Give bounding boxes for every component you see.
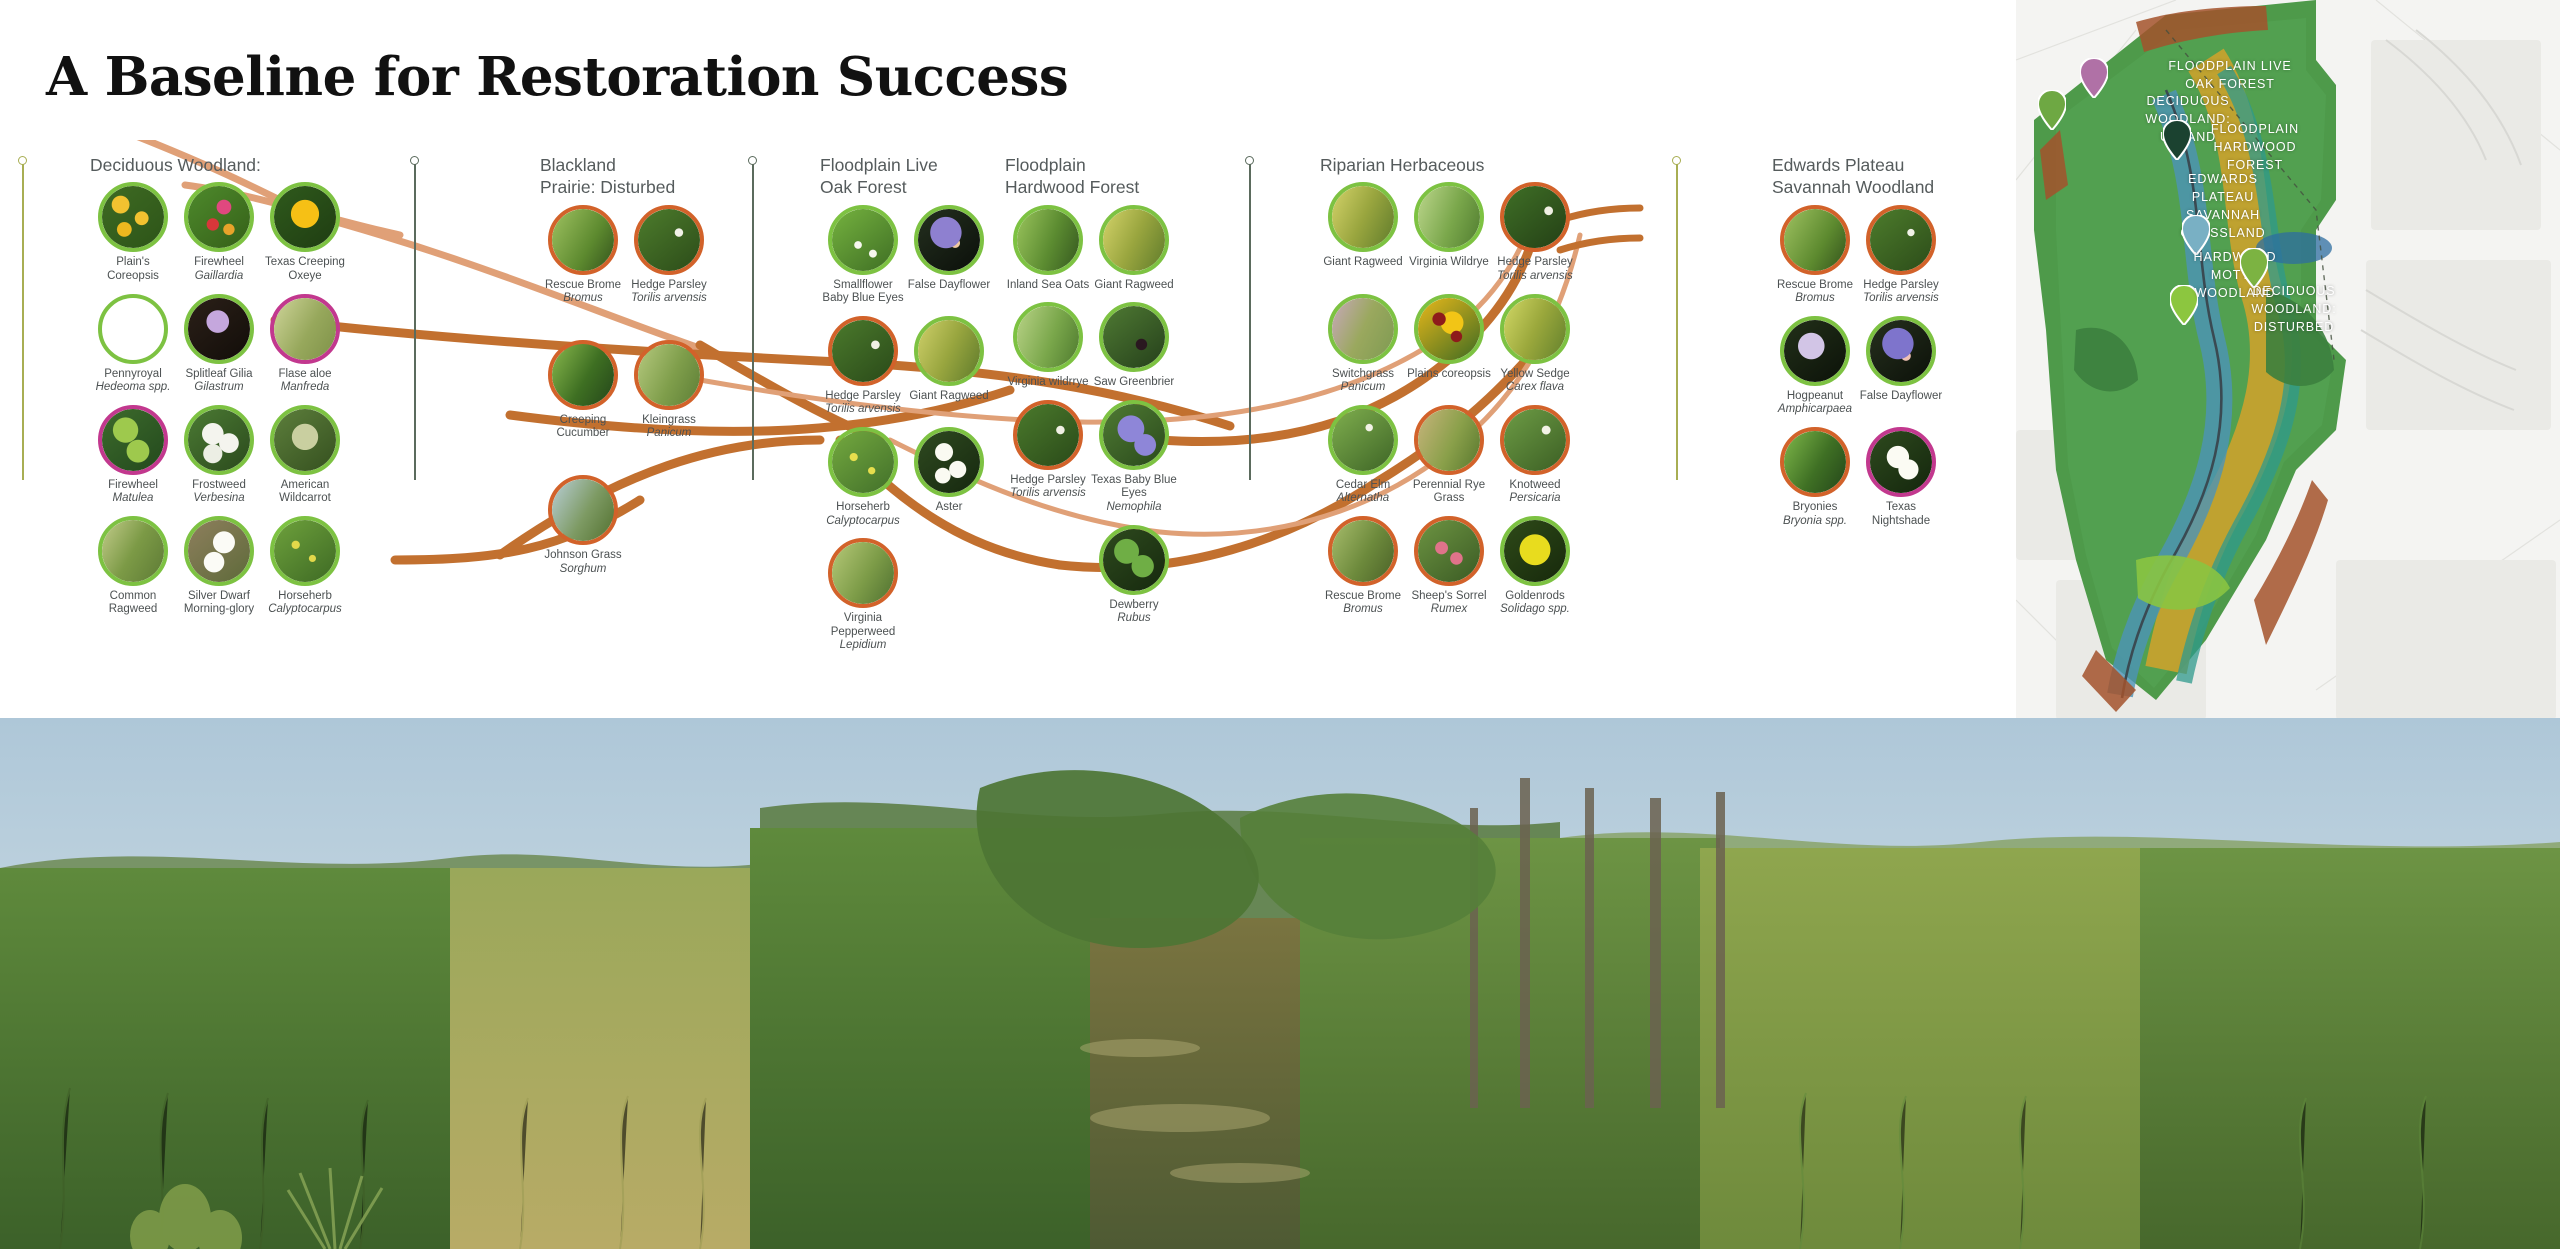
plant-photo-bubble bbox=[634, 340, 704, 410]
divider-stem-4 bbox=[1676, 162, 1678, 480]
plant-common-name: Bryonies bbox=[1772, 501, 1858, 515]
map-basemap bbox=[2016, 0, 2560, 720]
plant-card[interactable]: Dewberry Rubus bbox=[1091, 525, 1177, 626]
plant-card[interactable]: Inland Sea Oats bbox=[1005, 205, 1091, 293]
plant-common-name: Pennyroyal bbox=[90, 368, 176, 382]
plant-photo-bubble bbox=[1099, 302, 1169, 372]
plant-common-name: Flase aloe bbox=[262, 368, 348, 382]
plant-photo-bubble bbox=[548, 475, 618, 545]
plant-card[interactable]: Giant Ragweed bbox=[1320, 182, 1406, 283]
plant-photo-bubble bbox=[270, 182, 340, 252]
plant-latin-name: Solidago spp. bbox=[1492, 603, 1578, 617]
plant-latin-name: Bromus bbox=[540, 292, 626, 306]
plant-common-name: Cedar Elm bbox=[1320, 479, 1406, 493]
plant-card[interactable]: Cedar Elm Alternatha bbox=[1320, 405, 1406, 506]
plant-common-name: Plains coreopsis bbox=[1406, 368, 1492, 382]
divider-stem-dot-0 bbox=[18, 156, 27, 165]
group-title: Deciduous Woodland: bbox=[90, 154, 360, 176]
plant-common-name: Rescue Brome bbox=[1320, 590, 1406, 604]
map-pin-floodplain-live-oak-forest[interactable] bbox=[2080, 58, 2108, 98]
plant-photo-bubble bbox=[914, 316, 984, 386]
plant-common-name: Saw Greenbrier bbox=[1091, 376, 1177, 390]
plant-common-name: Kleingrass bbox=[626, 414, 712, 428]
plant-photo-bubble bbox=[1013, 205, 1083, 275]
plant-photo-bubble bbox=[914, 427, 984, 497]
plant-card[interactable]: Texas Nightshade bbox=[1858, 427, 1944, 528]
plant-grid: Smallflower Baby Blue Eyes False Dayflow… bbox=[820, 205, 1000, 663]
plant-common-name: Texas Creeping Oxeye bbox=[262, 256, 348, 283]
map-pin-floodplain-hardwood-forest[interactable] bbox=[2163, 120, 2191, 160]
plant-photo-bubble bbox=[98, 294, 168, 364]
plant-card[interactable]: Knotweed Persicaria bbox=[1492, 405, 1578, 506]
plant-photo-bubble bbox=[1013, 400, 1083, 470]
plant-photo-bubble bbox=[1500, 405, 1570, 475]
plant-photo-bubble bbox=[184, 182, 254, 252]
plant-photo-bubble bbox=[1500, 516, 1570, 586]
plant-common-name: Frostweed bbox=[176, 479, 262, 493]
plant-photo-bubble bbox=[1866, 427, 1936, 497]
plant-common-name: Hedge Parsley bbox=[1858, 279, 1944, 293]
plant-common-name: Giant Ragweed bbox=[1091, 279, 1177, 293]
plant-common-name: Hedge Parsley bbox=[1492, 256, 1578, 270]
plant-card[interactable]: Rescue Brome Bromus bbox=[1320, 516, 1406, 617]
plant-common-name: Hedge Parsley bbox=[820, 390, 906, 404]
plant-card[interactable]: Frostweed Verbesina bbox=[176, 405, 262, 506]
plant-photo-bubble bbox=[634, 205, 704, 275]
plant-common-name: Sheep's Sorrel bbox=[1406, 590, 1492, 604]
plant-card[interactable]: Smallflower Baby Blue Eyes bbox=[820, 205, 906, 306]
plant-latin-name: Panicum bbox=[1320, 381, 1406, 395]
plant-photo-bubble bbox=[98, 516, 168, 586]
plant-latin-name: Gilastrum bbox=[176, 381, 262, 395]
plant-card[interactable]: Texas Creeping Oxeye bbox=[262, 182, 348, 283]
plant-common-name: Switchgrass bbox=[1320, 368, 1406, 382]
plant-common-name: Splitleaf Gilia bbox=[176, 368, 262, 382]
group-deciduous-woodland: Deciduous Woodland: Plain's Coreopsis Fi… bbox=[90, 154, 360, 627]
plant-card[interactable]: Silver Dwarf Morning-glory bbox=[176, 516, 262, 617]
site-map[interactable]: FLOODPLAIN LIVE OAK FOREST DECIDUOUS WOO… bbox=[2016, 0, 2560, 720]
plant-card[interactable]: Flase aloe Manfreda bbox=[262, 294, 348, 395]
plant-common-name: Yellow Sedge bbox=[1492, 368, 1578, 382]
plant-photo-bubble bbox=[1099, 525, 1169, 595]
plant-card[interactable]: Virginia Pepperweed Lepidium bbox=[820, 538, 906, 653]
group-blackland-prairie: Blackland Prairie: Disturbed Rescue Brom… bbox=[540, 154, 720, 586]
plant-card[interactable]: Hedge Parsley Torilis arvensis bbox=[820, 316, 906, 417]
plant-common-name: Knotweed bbox=[1492, 479, 1578, 493]
plant-photo-bubble bbox=[1328, 405, 1398, 475]
plant-latin-name: Amphicarpaea bbox=[1772, 403, 1858, 417]
plant-photo-bubble bbox=[98, 405, 168, 475]
plant-photo-bubble bbox=[270, 405, 340, 475]
plant-common-name: Firewheel bbox=[90, 479, 176, 493]
plant-card[interactable]: Kleingrass Panicum bbox=[626, 340, 712, 441]
plant-card[interactable]: Plains coreopsis bbox=[1406, 294, 1492, 395]
plant-common-name: Smallflower Baby Blue Eyes bbox=[820, 279, 906, 306]
group-floodplain-live-oak-forest: Floodplain Live Oak Forest Smallflower B… bbox=[820, 154, 1000, 663]
plant-photo-bubble bbox=[828, 205, 898, 275]
plant-grid: Giant Ragweed Virginia Wildrye Hedge Par… bbox=[1320, 182, 1590, 627]
plant-card[interactable]: Switchgrass Panicum bbox=[1320, 294, 1406, 395]
plant-card[interactable]: Saw Greenbrier bbox=[1091, 302, 1177, 390]
plant-grid: Rescue Brome Bromus Hedge Parsley Torili… bbox=[540, 205, 720, 586]
group-title: Riparian Herbaceous bbox=[1320, 154, 1590, 176]
plant-common-name: Hedge Parsley bbox=[1005, 474, 1091, 488]
plant-photo-bubble bbox=[548, 340, 618, 410]
plant-photo-bubble bbox=[1500, 294, 1570, 364]
plant-photo-bubble bbox=[1414, 294, 1484, 364]
plant-photo-bubble bbox=[914, 205, 984, 275]
plant-common-name: Plain's Coreopsis bbox=[90, 256, 176, 283]
plant-card[interactable]: Rescue Brome Bromus bbox=[1772, 205, 1858, 306]
plant-photo-bubble bbox=[98, 182, 168, 252]
map-label-floodplain-hardwood-forest: FLOODPLAIN HARDWOOD FOREST bbox=[2196, 120, 2314, 174]
map-pin-icon bbox=[2080, 58, 2108, 98]
divider-stem-0 bbox=[22, 162, 24, 480]
plant-common-name: Virginia wildrrye bbox=[1005, 376, 1091, 390]
plant-card[interactable]: Johnson Grass Sorghum bbox=[540, 475, 626, 576]
plant-photo-bubble bbox=[828, 538, 898, 608]
plant-photo-bubble bbox=[184, 294, 254, 364]
group-riparian-herbaceous: Riparian Herbaceous Giant Ragweed Virgin… bbox=[1320, 154, 1590, 627]
plant-latin-name: Torilis arvensis bbox=[1492, 270, 1578, 284]
plant-card[interactable]: Giant Ragweed bbox=[1091, 205, 1177, 293]
plant-common-name: Perennial Rye Grass bbox=[1406, 479, 1492, 506]
plant-card[interactable]: Firewheel Matulea bbox=[90, 405, 176, 506]
plant-card[interactable]: Yellow Sedge Carex flava bbox=[1492, 294, 1578, 395]
group-title: Floodplain Live Oak Forest bbox=[820, 154, 1000, 199]
divider-stem-1 bbox=[414, 162, 416, 480]
plant-common-name: Rescue Brome bbox=[1772, 279, 1858, 293]
plant-photo-bubble bbox=[270, 516, 340, 586]
plant-photo-bubble bbox=[828, 427, 898, 497]
plant-grid: Plain's Coreopsis Firewheel Gaillardia T… bbox=[90, 182, 360, 627]
plant-common-name: Virginia Wildrye bbox=[1406, 256, 1492, 270]
plant-common-name: Horseherb bbox=[262, 590, 348, 604]
plant-photo-bubble bbox=[184, 405, 254, 475]
plant-card[interactable]: American Wildcarrot bbox=[262, 405, 348, 506]
plant-card[interactable]: Hedge Parsley Torilis arvensis bbox=[1858, 205, 1944, 306]
plant-photo-bubble bbox=[1013, 302, 1083, 372]
plant-latin-name: Rubus bbox=[1091, 612, 1177, 626]
plant-common-name: American Wildcarrot bbox=[262, 479, 348, 506]
plant-photo-bubble bbox=[1099, 205, 1169, 275]
divider-stem-dot-3 bbox=[1245, 156, 1254, 165]
divider-stem-3 bbox=[1249, 162, 1251, 480]
plant-card[interactable]: Sheep's Sorrel Rumex bbox=[1406, 516, 1492, 617]
plant-latin-name: Bromus bbox=[1320, 603, 1406, 617]
plant-photo-bubble bbox=[1414, 516, 1484, 586]
plant-common-name: Johnson Grass bbox=[540, 549, 626, 563]
plant-photo-bubble bbox=[1866, 316, 1936, 386]
plant-card[interactable]: False Dayflower bbox=[1858, 316, 1944, 417]
plant-latin-name: Hedeoma spp. bbox=[90, 381, 176, 395]
divider-stem-dot-1 bbox=[410, 156, 419, 165]
plant-latin-name: Persicaria bbox=[1492, 492, 1578, 506]
plant-card[interactable]: Splitleaf Gilia Gilastrum bbox=[176, 294, 262, 395]
site-panorama[interactable]: Deciduous Woodland: Upland Blackland Pra… bbox=[0, 718, 2560, 1249]
plant-grid: Inland Sea Oats Giant Ragweed Virginia w… bbox=[1005, 205, 1185, 636]
plant-common-name: False Dayflower bbox=[906, 279, 992, 293]
group-title: Edwards Plateau Savannah Woodland bbox=[1772, 154, 1952, 199]
plant-latin-name: Matulea bbox=[90, 492, 176, 506]
map-pin-deciduous-woodland-upland[interactable] bbox=[2038, 90, 2066, 130]
plant-common-name: Rescue Brome bbox=[540, 279, 626, 293]
plant-latin-name: Panicum bbox=[626, 427, 712, 441]
plant-latin-name: Calyptocarpus bbox=[820, 515, 906, 529]
plant-latin-name: Manfreda bbox=[262, 381, 348, 395]
plant-common-name: Silver Dwarf Morning-glory bbox=[176, 590, 262, 617]
plant-latin-name: Alternatha bbox=[1320, 492, 1406, 506]
plant-card[interactable]: Hedge Parsley Torilis arvensis bbox=[626, 205, 712, 306]
plant-card[interactable]: Virginia Wildrye bbox=[1406, 182, 1492, 283]
plant-photo-bubble bbox=[1414, 182, 1484, 252]
plant-latin-name: Bromus bbox=[1772, 292, 1858, 306]
group-edwards-plateau-savannah-woodland: Edwards Plateau Savannah Woodland Rescue… bbox=[1772, 154, 1952, 538]
plant-common-name: Hedge Parsley bbox=[626, 279, 712, 293]
divider-stem-dot-2 bbox=[748, 156, 757, 165]
group-floodplain-hardwood-forest: Floodplain Hardwood Forest Inland Sea Oa… bbox=[1005, 154, 1185, 636]
plant-latin-name: Carex flava bbox=[1492, 381, 1578, 395]
plant-photo-bubble bbox=[1780, 427, 1850, 497]
plant-common-name: Giant Ragweed bbox=[1320, 256, 1406, 270]
plant-common-name: Aster bbox=[906, 501, 992, 515]
group-title: Blackland Prairie: Disturbed bbox=[540, 154, 720, 199]
plant-card[interactable]: Common Ragweed bbox=[90, 516, 176, 617]
plant-card[interactable]: Aster bbox=[906, 427, 992, 528]
plant-latin-name: Gaillardia bbox=[176, 270, 262, 284]
plant-common-name: Virginia Pepperweed bbox=[820, 612, 906, 639]
plant-photo-bubble bbox=[1780, 316, 1850, 386]
plant-photo-bubble bbox=[828, 316, 898, 386]
plant-common-name: Firewheel bbox=[176, 256, 262, 270]
plant-common-name: Horseherb bbox=[820, 501, 906, 515]
plant-latin-name: Nemophila bbox=[1091, 501, 1177, 515]
plant-latin-name: Lepidium bbox=[820, 639, 906, 653]
page-title: A Baseline for Restoration Success bbox=[46, 46, 1068, 108]
plant-common-name: Goldenrods bbox=[1492, 590, 1578, 604]
plant-photo-bubble bbox=[270, 294, 340, 364]
plant-common-name: Giant Ragweed bbox=[906, 390, 992, 404]
plant-latin-name: Sorghum bbox=[540, 563, 626, 577]
plant-photo-bubble bbox=[184, 516, 254, 586]
plant-latin-name: Torilis arvensis bbox=[820, 403, 906, 417]
plant-photo-bubble bbox=[1500, 182, 1570, 252]
plant-card[interactable]: Rescue Brome Bromus bbox=[540, 205, 626, 306]
plant-latin-name: Torilis arvensis bbox=[626, 292, 712, 306]
map-label-floodplain-live-oak-forest: FLOODPLAIN LIVE OAK FOREST bbox=[2155, 57, 2305, 93]
plant-card[interactable]: Hedge Parsley Torilis arvensis bbox=[1005, 400, 1091, 515]
plant-card[interactable]: Creeping Cucumber bbox=[540, 340, 626, 441]
plant-card[interactable]: Perennial Rye Grass bbox=[1406, 405, 1492, 506]
plant-card[interactable]: Hedge Parsley Torilis arvensis bbox=[1492, 182, 1578, 283]
plant-common-name: Hogpeanut bbox=[1772, 390, 1858, 404]
plant-common-name: Inland Sea Oats bbox=[1005, 279, 1091, 293]
plant-common-name: Dewberry bbox=[1091, 599, 1177, 613]
plant-photo-bubble bbox=[1780, 205, 1850, 275]
plant-common-name: Creeping Cucumber bbox=[540, 414, 626, 441]
plant-card[interactable]: Goldenrods Solidago spp. bbox=[1492, 516, 1578, 617]
plant-common-name: Texas Baby Blue Eyes bbox=[1091, 474, 1177, 501]
plant-latin-name: Calyptocarpus bbox=[262, 603, 348, 617]
plant-photo-bubble bbox=[1328, 182, 1398, 252]
plant-photo-bubble bbox=[1866, 205, 1936, 275]
plant-card[interactable]: Firewheel Gaillardia bbox=[176, 182, 262, 283]
panorama-photo bbox=[0, 718, 2560, 1249]
map-label-deciduous-woodland-disturbed: DECIDUOUS WOODLAND: DISTURBED bbox=[2234, 282, 2354, 336]
habitat-diagram: Deciduous Woodland: Plain's Coreopsis Fi… bbox=[0, 140, 2020, 710]
plant-photo-bubble bbox=[1328, 516, 1398, 586]
plant-latin-name: Torilis arvensis bbox=[1858, 292, 1944, 306]
plant-latin-name: Bryonia spp. bbox=[1772, 515, 1858, 529]
group-title: Floodplain Hardwood Forest bbox=[1005, 154, 1185, 199]
map-pin-icon bbox=[2163, 120, 2191, 160]
plant-common-name: Common Ragweed bbox=[90, 590, 176, 617]
plant-card[interactable]: False Dayflower bbox=[906, 205, 992, 306]
divider-stem-dot-4 bbox=[1672, 156, 1681, 165]
plant-card[interactable]: Pennyroyal Hedeoma spp. bbox=[90, 294, 176, 395]
plant-photo-bubble bbox=[1099, 400, 1169, 470]
plant-card[interactable]: Horseherb Calyptocarpus bbox=[820, 427, 906, 528]
map-pin-icon bbox=[2038, 90, 2066, 130]
plant-photo-bubble bbox=[548, 205, 618, 275]
plant-card[interactable]: Bryonies Bryonia spp. bbox=[1772, 427, 1858, 528]
plant-card[interactable]: Hogpeanut Amphicarpaea bbox=[1772, 316, 1858, 417]
plant-latin-name: Verbesina bbox=[176, 492, 262, 506]
plant-photo-bubble bbox=[1414, 405, 1484, 475]
plant-card[interactable]: Plain's Coreopsis bbox=[90, 182, 176, 283]
plant-card[interactable]: Virginia wildrrye bbox=[1005, 302, 1091, 390]
plant-card[interactable]: Texas Baby Blue Eyes Nemophila bbox=[1091, 400, 1177, 515]
plant-common-name: False Dayflower bbox=[1858, 390, 1944, 404]
plant-latin-name: Rumex bbox=[1406, 603, 1492, 617]
plant-card[interactable]: Horseherb Calyptocarpus bbox=[262, 516, 348, 617]
plant-card[interactable]: Giant Ragweed bbox=[906, 316, 992, 417]
plant-photo-bubble bbox=[1328, 294, 1398, 364]
plant-latin-name: Torilis arvensis bbox=[1005, 487, 1091, 501]
plant-grid: Rescue Brome Bromus Hedge Parsley Torili… bbox=[1772, 205, 1952, 538]
plant-common-name: Texas Nightshade bbox=[1858, 501, 1944, 528]
divider-stem-2 bbox=[752, 162, 754, 480]
